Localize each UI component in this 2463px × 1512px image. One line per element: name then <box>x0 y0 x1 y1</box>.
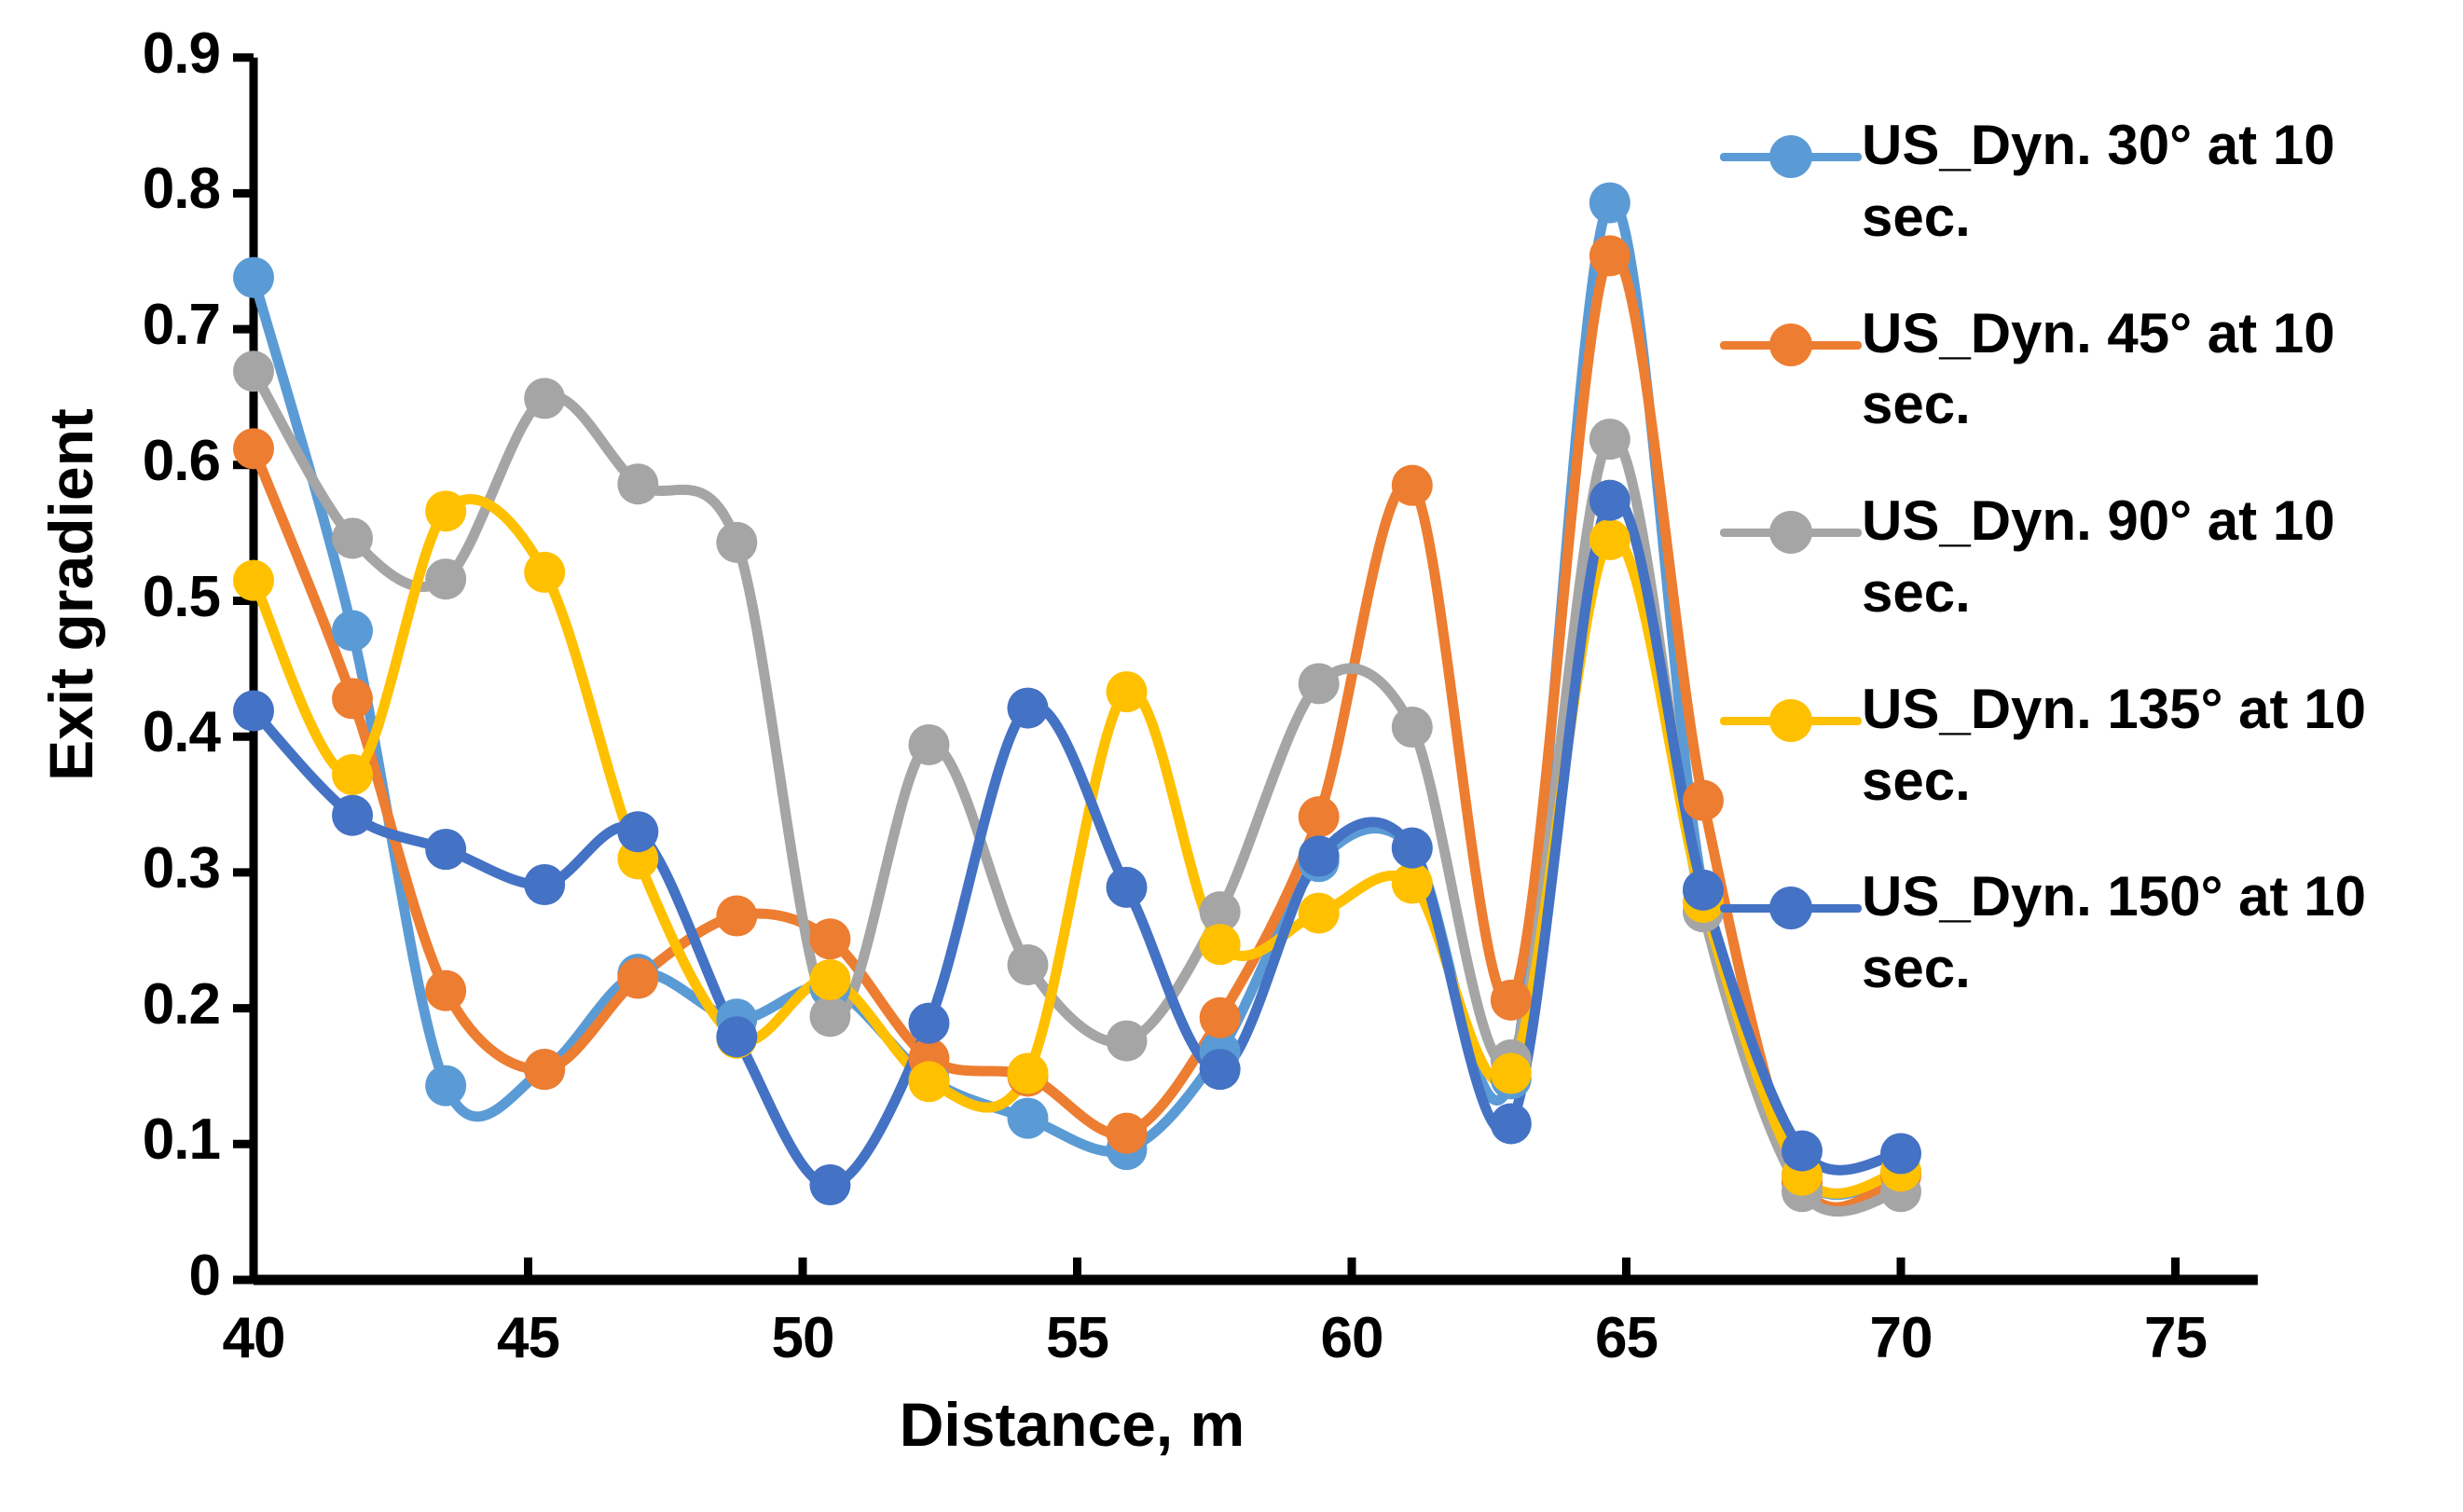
series-lines <box>254 201 1901 1211</box>
series-marker <box>716 1016 757 1057</box>
series-marker <box>716 896 757 937</box>
legend-item-label: US_Dyn. 150° at 10 sec. <box>1862 861 2430 1005</box>
series-marker <box>524 864 565 905</box>
series-marker <box>524 378 565 419</box>
x-axis-tick-label: 55 <box>984 1305 1171 1371</box>
series-marker <box>1491 1053 1532 1094</box>
legend-dot-swatch <box>1769 323 1812 366</box>
legend-item-3[interactable]: US_Dyn. 135° at 10 sec. <box>1720 674 2456 818</box>
series-marker <box>524 552 565 593</box>
series-marker <box>1589 235 1631 276</box>
series-marker <box>425 490 466 531</box>
series-marker <box>332 754 373 795</box>
legend-item-0[interactable]: US_Dyn. 30° at 10 sec. <box>1720 110 2456 254</box>
x-axis-tick-label: 75 <box>2083 1305 2269 1371</box>
series-marker <box>332 517 373 558</box>
series-marker <box>809 918 850 959</box>
series-marker <box>809 959 850 1000</box>
series-marker <box>1007 1053 1048 1094</box>
series-marker <box>1107 671 1148 712</box>
x-axis-tick-label: 70 <box>1808 1305 1994 1371</box>
series-marker <box>1880 1134 1921 1175</box>
series-marker <box>1683 870 1724 911</box>
series-marker <box>233 560 274 601</box>
series-marker <box>617 811 658 852</box>
series-line-0 <box>254 201 1901 1194</box>
series-marker <box>1782 1131 1823 1172</box>
series-marker <box>1200 924 1241 965</box>
series-marker <box>332 611 373 652</box>
x-axis-title: Distance, m <box>653 1389 1492 1460</box>
legend-item-label: US_Dyn. 90° at 10 sec. <box>1862 486 2430 629</box>
legend-item-2[interactable]: US_Dyn. 90° at 10 sec. <box>1720 486 2456 629</box>
series-marker <box>1589 183 1631 224</box>
legend-marker-icon <box>1720 878 1862 938</box>
legend-item-label: US_Dyn. 45° at 10 sec. <box>1862 298 2430 442</box>
series-marker <box>233 351 274 392</box>
series-marker <box>1589 519 1631 560</box>
series-marker <box>908 1061 949 1102</box>
series-marker <box>1392 863 1433 904</box>
series-marker <box>1589 419 1631 460</box>
series-marker <box>1491 1103 1532 1144</box>
series-marker <box>1107 1021 1148 1062</box>
series-marker <box>1392 828 1433 869</box>
exit-gradient-line-chart: 00.10.20.30.40.50.60.70.80.9 40455055606… <box>0 0 2463 1512</box>
series-marker <box>1683 780 1724 821</box>
legend-item-label: US_Dyn. 135° at 10 sec. <box>1862 674 2430 818</box>
series-marker <box>908 724 949 765</box>
x-axis-tick-label: 40 <box>160 1305 347 1371</box>
series-marker <box>809 996 850 1037</box>
y-axis-tick-label: 0 <box>24 1243 220 1309</box>
legend-item-label: US_Dyn. 30° at 10 sec. <box>1862 110 2430 254</box>
y-axis-tick-label: 0.7 <box>24 292 220 358</box>
legend-dot-swatch <box>1769 135 1812 178</box>
series-marker <box>1392 707 1433 748</box>
series-marker <box>1491 980 1532 1021</box>
series-marker <box>524 1049 565 1090</box>
series-marker <box>617 958 658 999</box>
chart-legend: US_Dyn. 30° at 10 sec.US_Dyn. 45° at 10 … <box>1720 110 2456 1050</box>
legend-item-4[interactable]: US_Dyn. 150° at 10 sec. <box>1720 861 2456 1005</box>
series-marker <box>332 795 373 836</box>
x-axis-tick-label: 65 <box>1534 1305 1720 1371</box>
series-marker <box>1299 835 1340 876</box>
series-marker <box>1107 867 1148 908</box>
y-axis-tick-label: 0.1 <box>24 1107 220 1173</box>
legend-dot-swatch <box>1769 699 1812 742</box>
series-marker <box>233 691 274 732</box>
series-marker <box>1299 796 1340 837</box>
series-marker <box>233 428 274 469</box>
legend-dot-swatch <box>1769 511 1812 554</box>
series-marker <box>332 678 373 719</box>
legend-marker-icon <box>1720 315 1862 375</box>
y-axis-tick-label: 0.3 <box>24 835 220 901</box>
series-line-1 <box>254 254 1901 1208</box>
y-axis-tick-label: 0.9 <box>24 21 220 87</box>
series-marker <box>1299 893 1340 934</box>
x-axis-tick-label: 60 <box>1259 1305 1445 1371</box>
legend-marker-icon <box>1720 691 1862 750</box>
series-marker <box>1007 1098 1048 1139</box>
series-marker <box>425 1065 466 1107</box>
series-marker <box>1107 1113 1148 1154</box>
series-marker <box>1200 1049 1241 1090</box>
series-marker <box>1200 997 1241 1038</box>
series-marker <box>716 522 757 563</box>
series-marker <box>1589 480 1631 521</box>
y-axis-tick-label: 0.8 <box>24 156 220 222</box>
series-marker <box>908 1003 949 1044</box>
series-marker <box>425 970 466 1011</box>
legend-marker-icon <box>1720 127 1862 186</box>
series-marker <box>1299 663 1340 704</box>
series-marker <box>425 829 466 870</box>
series-line-4 <box>254 497 1901 1185</box>
x-axis-tick-label: 45 <box>435 1305 622 1371</box>
legend-item-1[interactable]: US_Dyn. 45° at 10 sec. <box>1720 298 2456 442</box>
series-marker <box>1392 465 1433 506</box>
legend-marker-icon <box>1720 502 1862 562</box>
series-marker <box>617 463 658 504</box>
series-marker <box>425 558 466 599</box>
series-marker <box>809 1164 850 1205</box>
y-axis-tick-label: 0.2 <box>24 971 220 1038</box>
legend-dot-swatch <box>1769 887 1812 929</box>
y-axis-title: Exit gradient <box>35 399 106 790</box>
x-axis-tick-label: 50 <box>709 1305 896 1371</box>
series-marker <box>1007 688 1048 729</box>
series-marker <box>233 257 274 298</box>
series-marker <box>1007 944 1048 985</box>
